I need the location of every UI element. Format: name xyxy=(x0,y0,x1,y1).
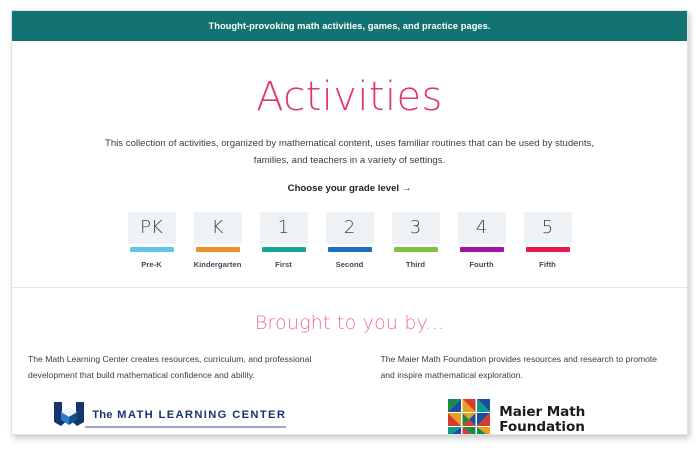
grade-color-bar xyxy=(526,247,570,252)
maier-logo-line1: Maier Math xyxy=(499,404,585,420)
page-root: Thought-provoking math activities, games… xyxy=(0,0,700,453)
grade-item-fifth[interactable]: 5 Fifth xyxy=(524,212,572,269)
grade-label: First xyxy=(260,260,308,269)
grade-color-bar xyxy=(262,247,306,252)
grade-color-bar xyxy=(196,247,240,252)
grade-item-second[interactable]: 2 Second xyxy=(326,212,374,269)
page-title: Activities xyxy=(12,41,687,117)
grade-label: Third xyxy=(392,260,440,269)
sponsor-maier-text: The Maier Math Foundation provides resou… xyxy=(381,352,672,384)
maier-logo-text: Maier MathFoundation xyxy=(499,405,585,435)
footer-section: Brought to you by... The Math Learning C… xyxy=(12,288,687,435)
sponsor-mlc: The Math Learning Center creates resourc… xyxy=(12,352,350,435)
grade-tile-symbol[interactable]: 2 xyxy=(326,212,374,244)
choose-grade-prompt: Choose your grade level → xyxy=(12,170,687,194)
grade-tile-symbol[interactable]: PK xyxy=(128,212,176,244)
mlc-logo-name: MATH LEARNING CENTER xyxy=(117,409,286,421)
grade-color-bar xyxy=(328,247,372,252)
mlc-logo[interactable]: The MATH LEARNING CENTER xyxy=(28,384,322,433)
site-tagline-bar: Thought-provoking math activities, games… xyxy=(12,11,687,41)
mlc-logo-underline xyxy=(85,426,286,428)
intro-text: This collection of activities, organized… xyxy=(88,117,612,170)
grade-label: Fourth xyxy=(458,260,506,269)
grade-tile-symbol[interactable]: 4 xyxy=(458,212,506,244)
sponsor-columns: The Math Learning Center creates resourc… xyxy=(12,334,687,435)
grade-tile-symbol[interactable]: 5 xyxy=(524,212,572,244)
maier-pinwheel-icon xyxy=(448,398,490,435)
grade-color-bar xyxy=(394,247,438,252)
grade-tile-symbol[interactable]: 3 xyxy=(392,212,440,244)
footer-title: Brought to you by... xyxy=(12,288,687,334)
sponsor-mlc-text: The Math Learning Center creates resourc… xyxy=(28,352,322,384)
main-section: Activities This collection of activities… xyxy=(12,41,687,287)
grade-item-fourth[interactable]: 4 Fourth xyxy=(458,212,506,269)
grade-item-kindergarten[interactable]: K Kindergarten xyxy=(194,212,242,269)
site-tagline: Thought-provoking math activities, games… xyxy=(208,21,490,31)
mlc-logo-text: The MATH LEARNING CENTER xyxy=(92,409,286,421)
sponsor-maier: The Maier Math Foundation provides resou… xyxy=(350,352,688,435)
grade-tile-symbol[interactable]: K xyxy=(194,212,242,244)
grade-item-first[interactable]: 1 First xyxy=(260,212,308,269)
grade-label: Fifth xyxy=(524,260,572,269)
content-card: Thought-provoking math activities, games… xyxy=(11,10,688,435)
grade-color-bar xyxy=(460,247,504,252)
grade-label: Pre-K xyxy=(128,260,176,269)
maier-logo-line2: Foundation xyxy=(499,419,585,435)
mlc-logo-the: The xyxy=(92,409,113,421)
grade-tile-symbol[interactable]: 1 xyxy=(260,212,308,244)
grade-item-prek[interactable]: PK Pre-K xyxy=(128,212,176,269)
grade-item-third[interactable]: 3 Third xyxy=(392,212,440,269)
maier-logo[interactable]: Maier MathFoundation xyxy=(381,384,672,435)
grade-color-bar xyxy=(130,247,174,252)
grade-label: Second xyxy=(326,260,374,269)
grade-label: Kindergarten xyxy=(194,260,242,269)
grade-level-list: PK Pre-K K Kindergarten 1 First 2 xyxy=(12,194,687,269)
mlc-cube-icon xyxy=(53,400,85,433)
